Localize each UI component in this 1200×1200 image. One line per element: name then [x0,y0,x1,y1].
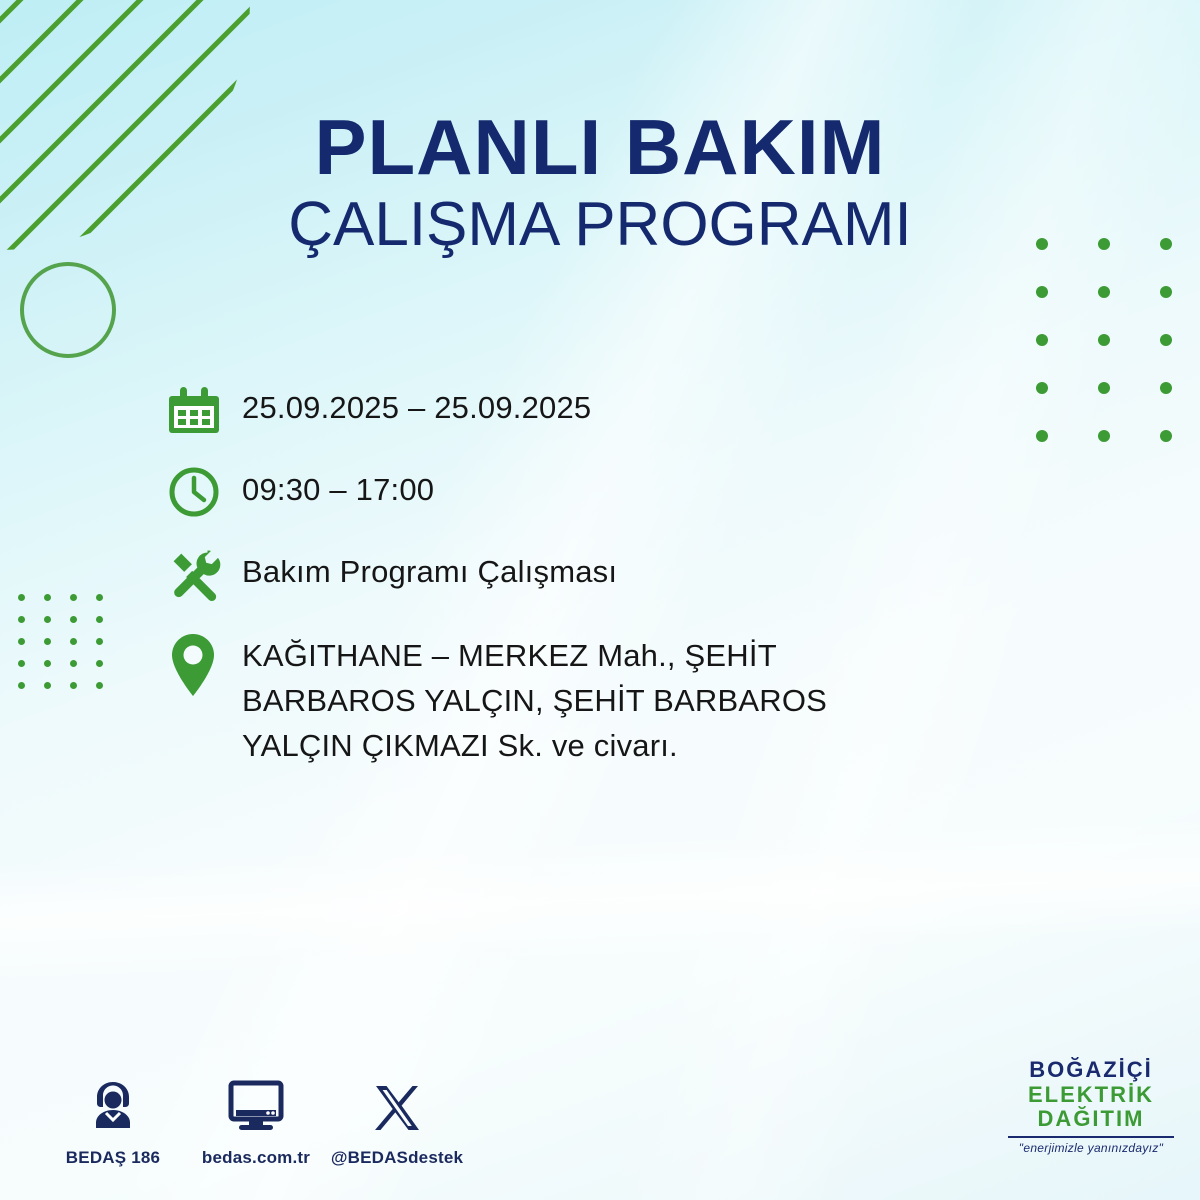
logo-tagline: "enerjimizle yanınızdayız" [1002,1141,1180,1155]
logo-line-bogazici: BOĞAZİÇİ [1002,1058,1180,1083]
title-line-1: PLANLI BAKIM [0,108,1200,186]
x-logo-icon [371,1082,423,1139]
contact-phone[interactable]: BEDAŞ 186 [38,1076,188,1168]
address-text: KAĞITHANE – MERKEZ Mah., ŞEHİT BARBAROS … [242,630,942,769]
dot-grid-right-decoration [1036,238,1182,448]
background-wave-band [0,815,1200,986]
clock-icon [168,464,242,518]
location-pin-icon [168,630,242,698]
contact-social-label: @BEDASdestek [331,1148,463,1168]
contact-phone-label: BEDAŞ 186 [66,1148,160,1168]
info-rows: 25.09.2025 – 25.09.2025 09:30 – 17:00 [168,382,988,797]
info-row-location: KAĞITHANE – MERKEZ Mah., ŞEHİT BARBAROS … [168,630,988,769]
tools-icon [168,546,242,602]
title-line-2: ÇALIŞMA PROGRAMI [0,186,1200,264]
contact-social[interactable]: @BEDASdestek [308,1082,486,1168]
logo-divider [1008,1136,1174,1138]
info-row-date: 25.09.2025 – 25.09.2025 [168,382,988,436]
circle-outline-decoration [20,262,116,358]
info-row-time: 09:30 – 17:00 [168,464,988,518]
logo-line-elektrik: ELEKTRİK [1002,1083,1180,1108]
time-range-text: 09:30 – 17:00 [242,464,434,512]
brand-logo: BOĞAZİÇİ ELEKTRİK DAĞITIM "enerjimizle y… [1002,1058,1180,1155]
headset-operator-icon [84,1076,142,1139]
page-title: PLANLI BAKIM ÇALIŞMA PROGRAMI [0,108,1200,264]
monitor-icon [227,1080,285,1139]
info-row-worktype: Bakım Programı Çalışması [168,546,988,602]
date-range-text: 25.09.2025 – 25.09.2025 [242,382,591,430]
calendar-icon [168,382,242,436]
work-type-text: Bakım Programı Çalışması [242,546,617,594]
dot-grid-left-decoration [18,594,110,690]
poster-canvas: PLANLI BAKIM ÇALIŞMA PROGRAMI 25 [0,0,1200,1200]
contact-website-label: bedas.com.tr [202,1148,310,1168]
logo-line-dagitim: DAĞITIM [1002,1107,1180,1132]
